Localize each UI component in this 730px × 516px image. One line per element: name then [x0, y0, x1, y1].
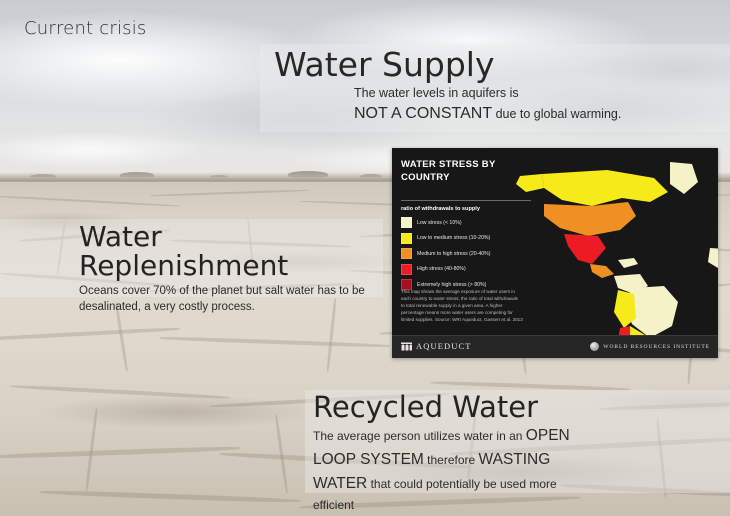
water-replenishment-block: Water Replenishment Oceans cover 70% of …	[79, 222, 379, 316]
globe-icon	[590, 342, 599, 351]
recycled-water-block: Recycled Water The average person utiliz…	[313, 392, 613, 515]
legend-label: Medium to high stress (20-40%)	[417, 251, 491, 257]
recycled-part-2: therefore	[424, 453, 479, 467]
wri-logo[interactable]: WORLD RESOURCES INSTITUTE	[590, 342, 710, 351]
recycled-water-heading: Recycled Water	[313, 392, 613, 422]
map-title: WATER STRESS BY COUNTRY	[401, 159, 521, 185]
slide-canvas: Current crisis Water Supply The water le…	[0, 0, 730, 516]
legend-swatch-high-stress	[401, 264, 412, 275]
water-stress-map-panel[interactable]: WATER STRESS BY COUNTRY ratio of withdra…	[392, 148, 718, 358]
water-supply-emphasis: NOT A CONSTANT	[354, 105, 492, 122]
water-supply-line-2: NOT A CONSTANT due to global warming.	[354, 103, 724, 125]
map-legend: ratio of withdrawals to supply Low stres…	[401, 200, 531, 295]
map-footer: AQUEDUCT WORLD RESOURCES INSTITUTE	[392, 335, 718, 358]
legend-item[interactable]: High stress (40-80%)	[401, 264, 531, 275]
legend-label: Low stress (< 10%)	[417, 220, 462, 226]
page-title: Current crisis	[24, 18, 147, 39]
aqueduct-brand[interactable]: AQUEDUCT	[401, 341, 472, 351]
legend-item[interactable]: Low stress (< 10%)	[401, 217, 531, 228]
aqueduct-arches-icon	[401, 342, 412, 351]
map-caption: This map shows the average exposure of w…	[401, 288, 523, 324]
aqueduct-wordmark: AQUEDUCT	[416, 341, 472, 351]
water-replenishment-body: Oceans cover 70% of the planet but salt …	[79, 283, 371, 316]
wri-wordmark: WORLD RESOURCES INSTITUTE	[603, 344, 710, 350]
legend-title: ratio of withdrawals to supply	[401, 200, 531, 212]
legend-swatch-low-to-medium-stress	[401, 233, 412, 244]
legend-swatch-low-stress	[401, 217, 412, 228]
water-supply-heading: Water Supply	[274, 48, 724, 83]
legend-item[interactable]: Medium to high stress (20-40%)	[401, 248, 531, 259]
water-supply-line-1: The water levels in aquifers is	[354, 85, 724, 102]
water-replenishment-heading: Water Replenishment	[79, 222, 379, 281]
legend-label: Extremely high stress (> 80%)	[417, 282, 486, 288]
recycled-water-body: The average person utilizes water in an …	[313, 424, 581, 515]
legend-swatch-medium-to-high-stress	[401, 248, 412, 259]
water-supply-block: Water Supply The water levels in aquifer…	[274, 48, 724, 124]
legend-label: Low to medium stress (10-20%)	[417, 235, 490, 241]
legend-label: High stress (40-80%)	[417, 266, 466, 272]
recycled-part-1: The average person utilizes water in an	[313, 429, 526, 443]
legend-item[interactable]: Low to medium stress (10-20%)	[401, 233, 531, 244]
water-supply-line-2-tail: due to global warming.	[492, 107, 621, 121]
